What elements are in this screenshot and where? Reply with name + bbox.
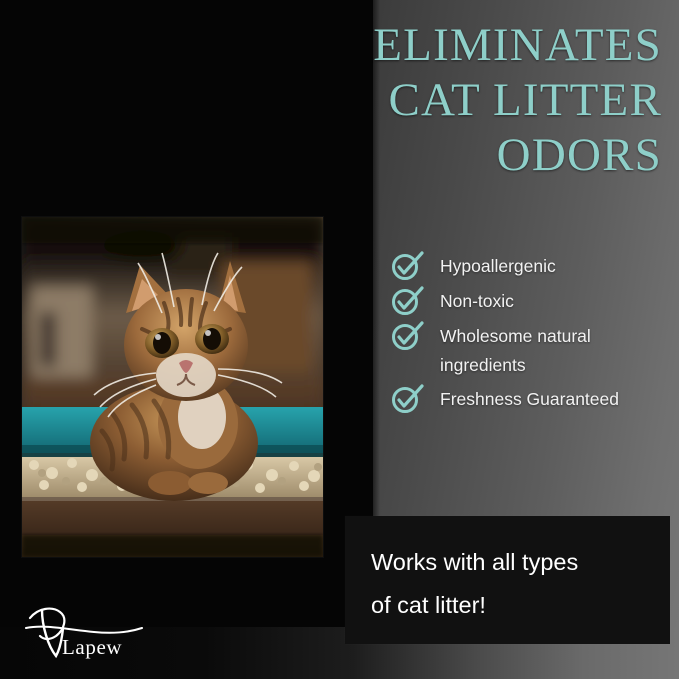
callout-text: Works with all types of cat litter!: [371, 541, 649, 627]
callout-box: Works with all types of cat litter!: [345, 516, 670, 644]
list-item: Non-toxic: [391, 287, 675, 317]
feature-list: Hypoallergenic Non-toxic Wholesome natur…: [391, 252, 675, 420]
check-circle-icon: [391, 286, 425, 316]
feature-label: Hypoallergenic: [440, 252, 556, 281]
feature-label: Non-toxic: [440, 287, 514, 316]
feature-label: Wholesome natural ingredients: [440, 322, 675, 380]
product-photo: [22, 217, 323, 557]
feature-label: Freshness Guaranteed: [440, 385, 619, 414]
brand-logo: Lapew: [22, 604, 154, 666]
page-title: ELIMINATES CAT LITTER ODORS: [242, 18, 662, 183]
brand-wordmark: Lapew: [62, 635, 122, 660]
list-item: Freshness Guaranteed: [391, 385, 675, 415]
check-circle-icon: [391, 251, 425, 281]
list-item: Hypoallergenic: [391, 252, 675, 282]
product-poster: ELIMINATES CAT LITTER ODORS: [0, 0, 679, 679]
check-circle-icon: [391, 321, 425, 351]
list-item: Wholesome natural ingredients: [391, 322, 675, 380]
check-circle-icon: [391, 384, 425, 414]
